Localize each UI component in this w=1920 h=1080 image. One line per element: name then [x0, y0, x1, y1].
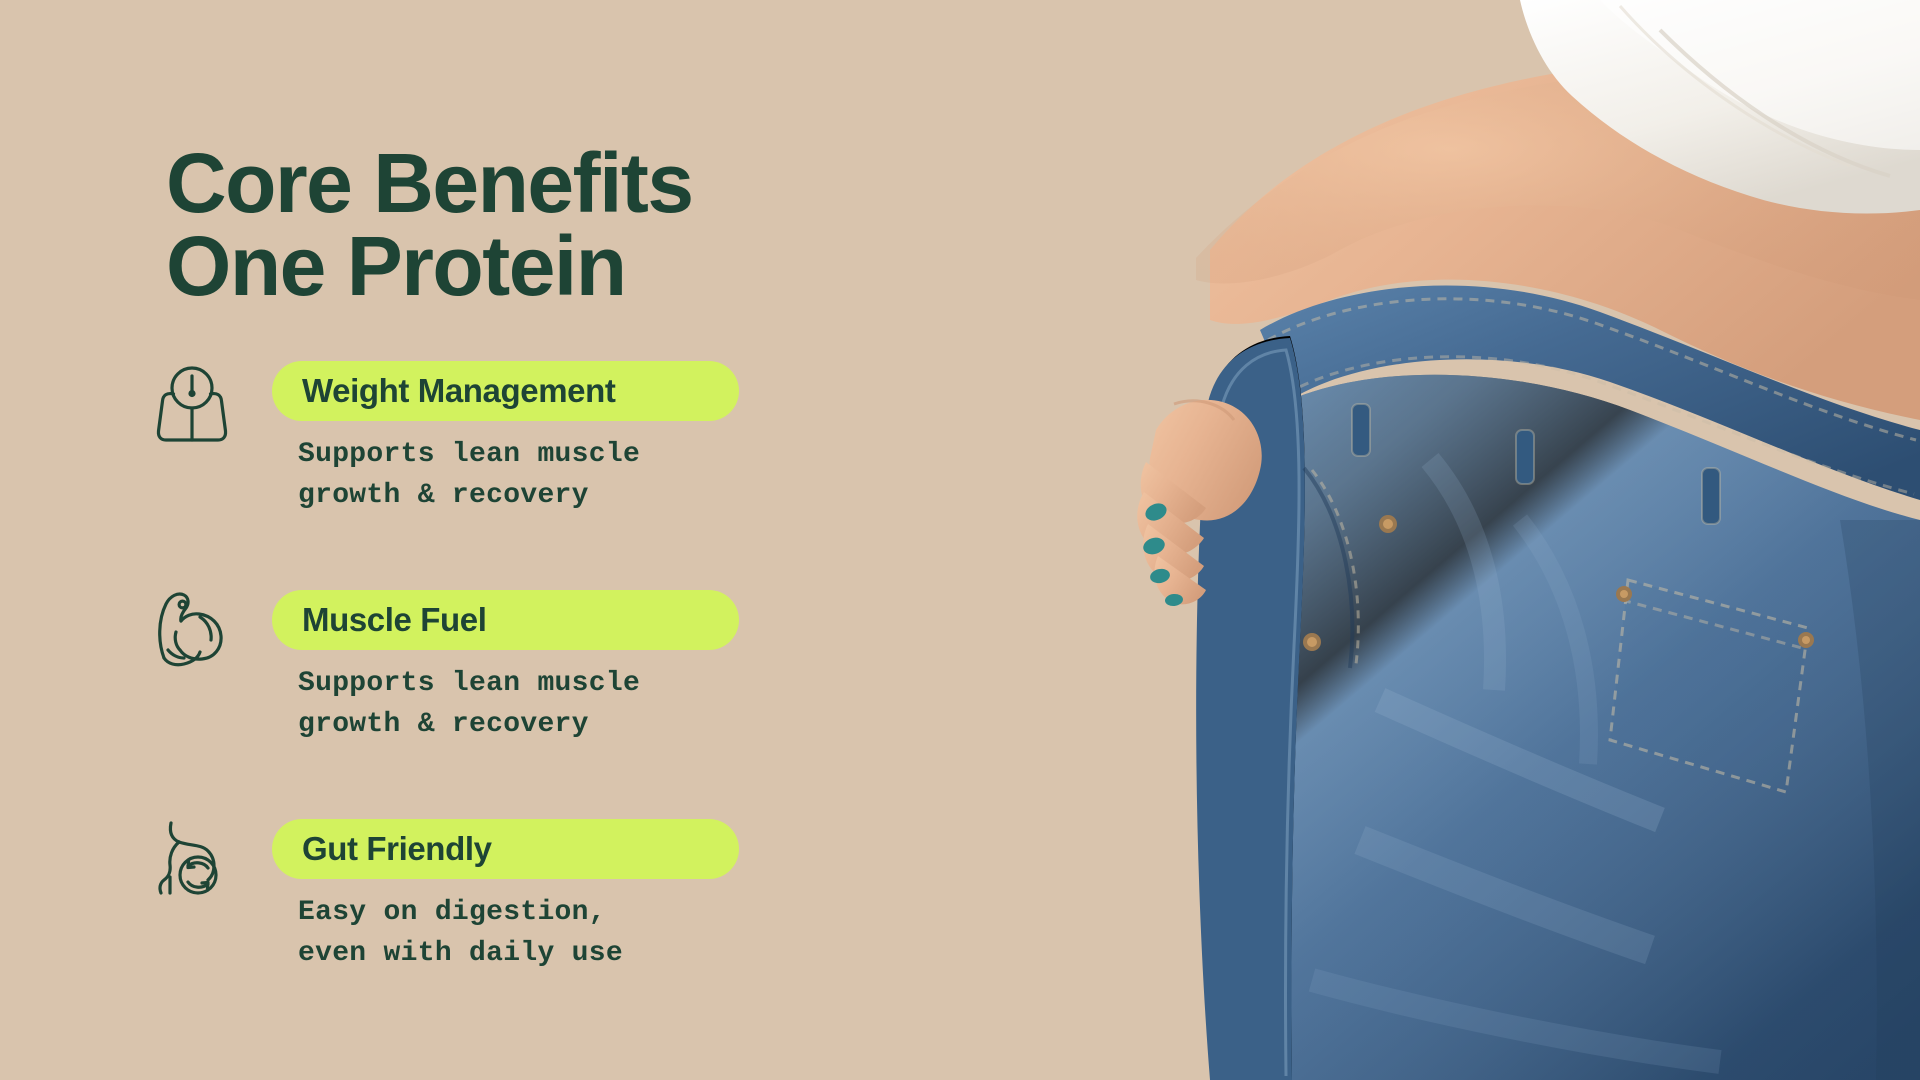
- benefit-badge-muscle-fuel[interactable]: Muscle Fuel: [272, 590, 739, 650]
- hero-photo: [960, 0, 1920, 1080]
- page-title: Core Benefits One Protein: [166, 142, 986, 308]
- benefit-description-line-1: Supports lean muscle: [298, 664, 818, 705]
- benefit-item-muscle-fuel: Muscle Fuel Supports lean muscle growth …: [150, 584, 850, 813]
- benefit-title: Weight Management: [302, 372, 615, 410]
- weight-scale-icon: [154, 357, 230, 443]
- headline-line-2: One Protein: [166, 225, 986, 308]
- benefit-description-line-1: Easy on digestion,: [298, 893, 818, 934]
- benefit-description-line-2: even with daily use: [298, 934, 818, 975]
- banner-canvas: Core Benefits One Protein Weight Managem…: [0, 0, 1920, 1080]
- benefit-item-gut-friendly: Gut Friendly Easy on digestion, even wit…: [150, 813, 850, 1042]
- benefit-badge-gut-friendly[interactable]: Gut Friendly: [272, 819, 739, 879]
- benefit-title: Muscle Fuel: [302, 601, 486, 639]
- benefit-title: Gut Friendly: [302, 830, 492, 868]
- benefit-description: Supports lean muscle growth & recovery: [298, 664, 818, 745]
- benefit-description: Easy on digestion, even with daily use: [298, 893, 818, 974]
- headline-line-1: Core Benefits: [166, 142, 986, 225]
- benefit-description-line-2: growth & recovery: [298, 476, 818, 517]
- benefit-description: Supports lean muscle growth & recovery: [298, 435, 818, 516]
- stomach-digestion-icon: [154, 815, 230, 901]
- benefit-description-line-1: Supports lean muscle: [298, 435, 818, 476]
- benefit-description-line-2: growth & recovery: [298, 705, 818, 746]
- benefits-list: Weight Management Supports lean muscle g…: [150, 355, 850, 1042]
- benefit-item-weight-management: Weight Management Supports lean muscle g…: [150, 355, 850, 584]
- content-column: Core Benefits One Protein Weight Managem…: [0, 0, 1060, 1080]
- flexed-bicep-icon: [154, 586, 230, 672]
- benefit-badge-weight-management[interactable]: Weight Management: [272, 361, 739, 421]
